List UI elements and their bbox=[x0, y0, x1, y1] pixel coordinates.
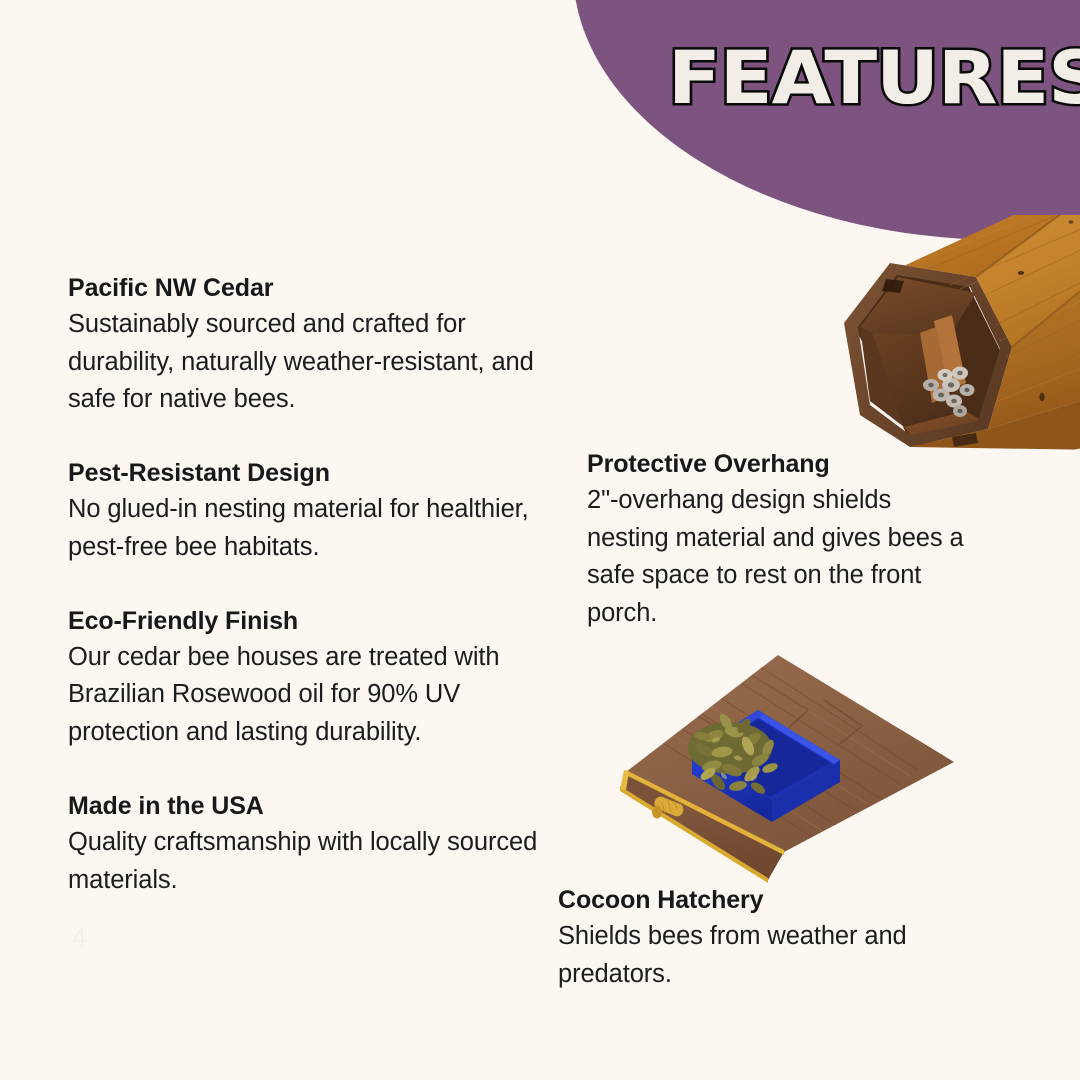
features-left-column: Pacific NW Cedar Sustainably sourced and… bbox=[68, 272, 538, 899]
feature-body: Sustainably sourced and crafted for dura… bbox=[68, 306, 538, 419]
watermark-glyph: 4 bbox=[72, 922, 86, 953]
feature-body: No glued-in nesting material for healthi… bbox=[68, 491, 538, 566]
feature-title: Pacific NW Cedar bbox=[68, 272, 538, 305]
feature-body: 2"-overhang design shields nesting mater… bbox=[587, 482, 967, 633]
feature-protective-overhang: Protective Overhang 2"-overhang design s… bbox=[587, 448, 967, 633]
feature-body: Our cedar bee houses are treated with Br… bbox=[68, 639, 538, 752]
feature-title: Cocoon Hatchery bbox=[558, 884, 978, 917]
feature-body: Quality craftsmanship with locally sourc… bbox=[68, 824, 538, 899]
feature-cocoon-hatchery: Cocoon Hatchery Shields bees from weathe… bbox=[558, 884, 978, 993]
feature-body: Shields bees from weather and predators. bbox=[558, 918, 978, 993]
feature-title: Pest-Resistant Design bbox=[68, 457, 538, 490]
feature-pacific-nw-cedar: Pacific NW Cedar Sustainably sourced and… bbox=[68, 272, 538, 419]
feature-title: Eco-Friendly Finish bbox=[68, 605, 538, 638]
feature-title: Protective Overhang bbox=[587, 448, 967, 481]
feature-pest-resistant-design: Pest-Resistant Design No glued-in nestin… bbox=[68, 457, 538, 566]
cocoon-hatchery-image bbox=[618, 640, 968, 890]
feature-title: Made in the USA bbox=[68, 790, 538, 823]
page-title: FEATURES bbox=[668, 42, 1080, 115]
feature-made-in-the-usa: Made in the USA Quality craftsmanship wi… bbox=[68, 790, 538, 899]
feature-eco-friendly-finish: Eco-Friendly Finish Our cedar bee houses… bbox=[68, 605, 538, 752]
